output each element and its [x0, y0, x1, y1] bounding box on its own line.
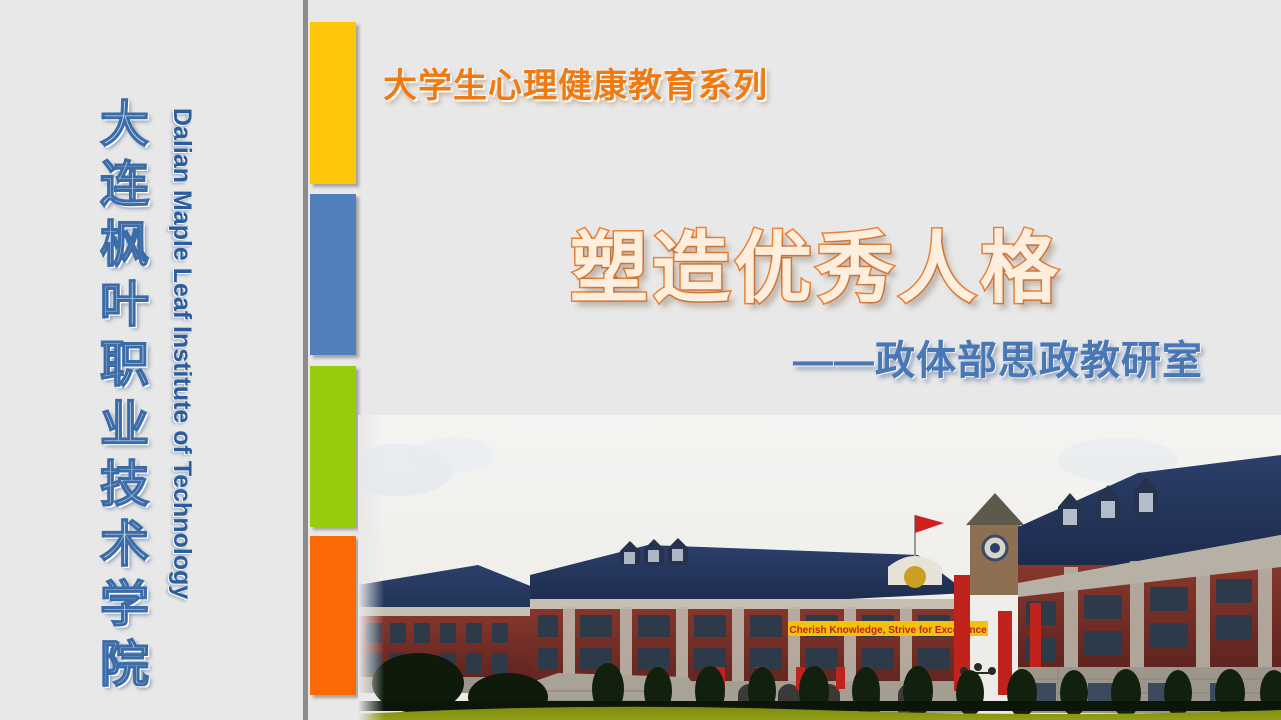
presentation-slide: 大连枫叶职业技术学院 Dalian Maple Leaf Institute o… — [0, 0, 1281, 720]
series-headline: 大学生心理健康教育系列 — [383, 58, 768, 107]
page-title: 塑造优秀人格 — [570, 206, 1062, 318]
institution-name-chinese: 大连枫叶职业技术学院 — [95, 98, 144, 698]
institution-name-english: Dalian Maple Leaf Institute of Technolog… — [167, 108, 196, 599]
color-chip-green — [310, 366, 356, 527]
vertical-divider — [303, 0, 308, 720]
campus-building-photo: Cherish Knowledge, Strive for Excellence — [358, 415, 1281, 720]
color-chip-blue — [310, 194, 356, 355]
subtitle-attribution: ——政体部思政教研室 — [793, 328, 1203, 386]
institution-name-english-text: Dalian Maple Leaf Institute of Technolog… — [167, 108, 196, 599]
color-chip-yellow — [310, 22, 356, 184]
institution-title-block: 大连枫叶职业技术学院 Dalian Maple Leaf Institute o… — [0, 0, 305, 720]
campus-photo-artwork: Cherish Knowledge, Strive for Excellence — [358, 415, 1281, 720]
color-chip-orange — [310, 536, 356, 695]
